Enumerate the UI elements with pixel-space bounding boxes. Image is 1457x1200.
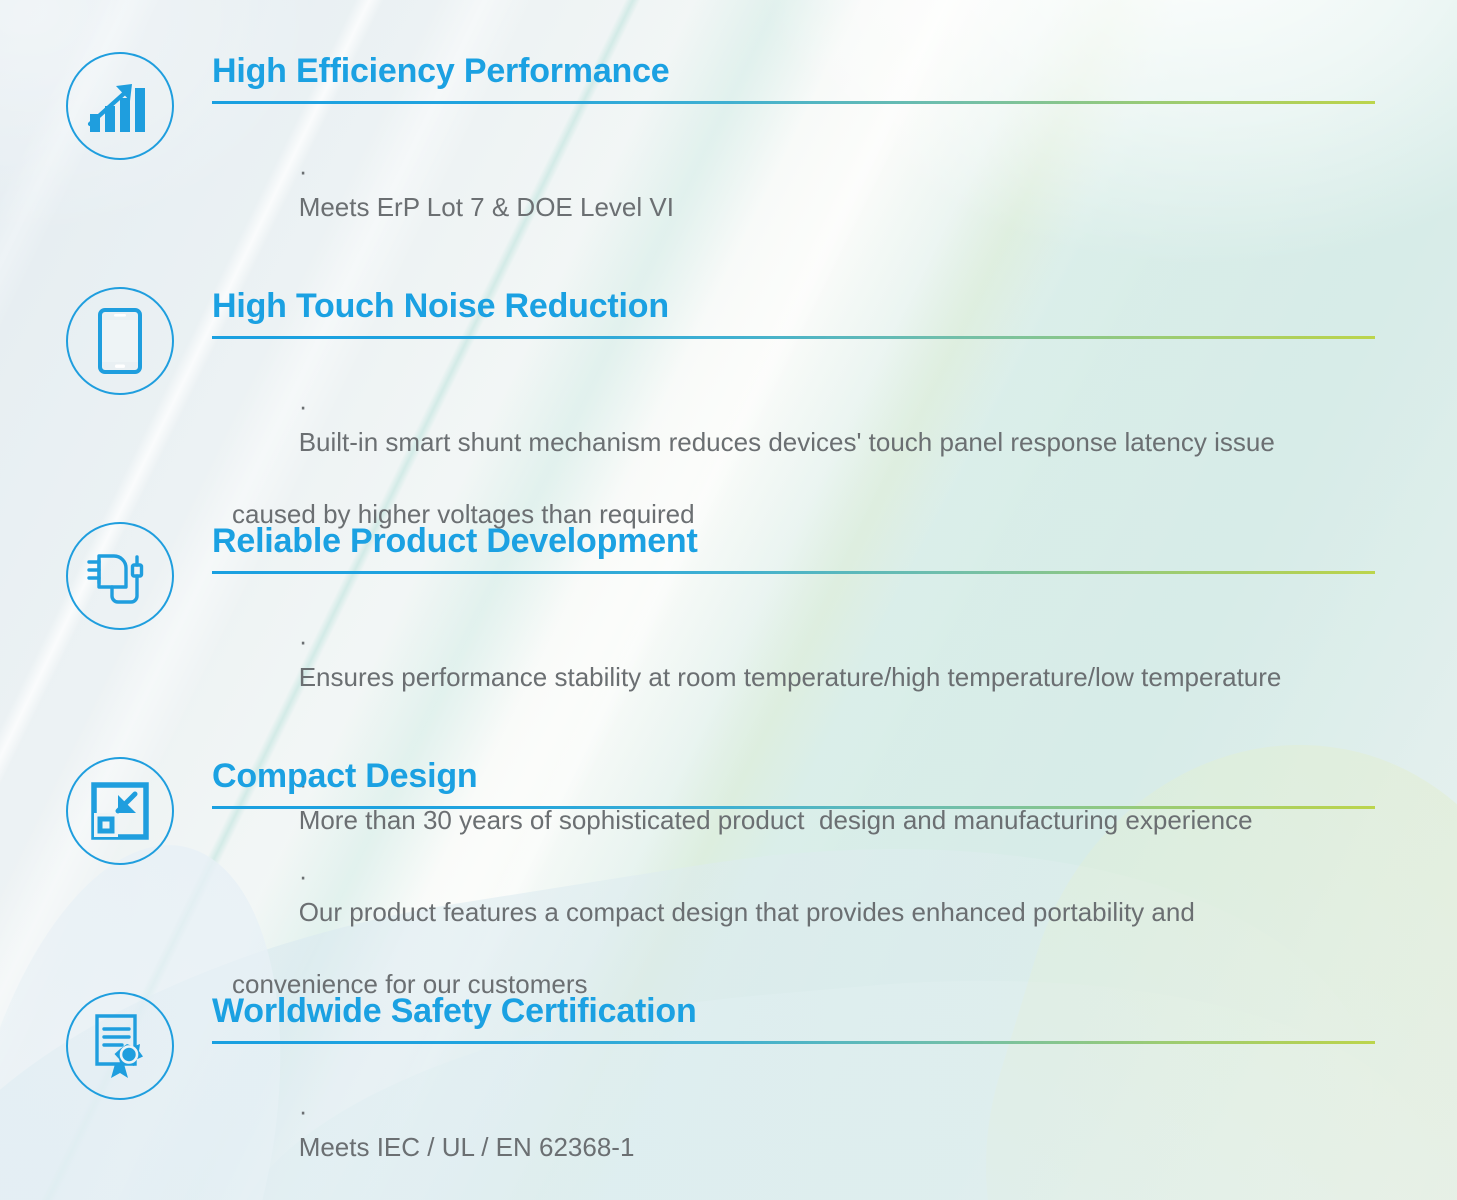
feature-bullet-line: · Our product features a compact design …	[212, 823, 1377, 967]
feature-item-worldwide-safety-certification: Worldwide Safety Certification · Meets I…	[0, 992, 1457, 1200]
feature-divider	[212, 101, 1375, 104]
feature-bullet-line: · Ensures performance stability at room …	[212, 588, 1377, 732]
feature-icon-wrap	[56, 757, 184, 865]
feature-body: Worldwide Safety Certification · Meets I…	[212, 992, 1457, 1200]
feature-lines: · Meets IEC / UL / EN 62368-1	[212, 1058, 1377, 1200]
feature-bullet-line: · Built-in smart shunt mechanism reduces…	[212, 353, 1377, 497]
feature-title: High Efficiency Performance	[212, 52, 1377, 90]
feature-divider	[212, 1041, 1375, 1044]
feature-title: Reliable Product Development	[212, 522, 1377, 560]
feature-bullet-line: · Meets ErP Lot 7 & DOE Level VI	[212, 118, 1377, 262]
smartphone-icon	[66, 287, 174, 395]
feature-title: Worldwide Safety Certification	[212, 992, 1377, 1030]
compact-resize-icon	[66, 757, 174, 865]
feature-icon-wrap	[56, 52, 184, 160]
feature-body: High Efficiency Performance · Meets ErP …	[212, 52, 1457, 262]
feature-icon-wrap	[56, 992, 184, 1100]
bullet-text: Built-in smart shunt mechanism reduces d…	[299, 427, 1275, 457]
feature-bullet-line: · Meets IEC / UL / EN 62368-1	[212, 1058, 1377, 1200]
feature-lines: · Our product features a compact design …	[212, 823, 1377, 1002]
feature-title: High Touch Noise Reduction	[212, 287, 1377, 325]
bullet-dot: ·	[299, 156, 308, 186]
feature-body: High Touch Noise Reduction · Built-in sm…	[212, 287, 1457, 532]
bullet-text: Ensures performance stability at room te…	[299, 662, 1282, 692]
bullet-dot: ·	[299, 1096, 308, 1126]
feature-divider	[212, 806, 1375, 809]
feature-item-high-efficiency-performance: High Efficiency Performance · Meets ErP …	[0, 52, 1457, 262]
feature-highlights-page: High Efficiency Performance · Meets ErP …	[0, 0, 1457, 1200]
feature-divider	[212, 336, 1375, 339]
feature-title: Compact Design	[212, 757, 1377, 795]
feature-lines: · Built-in smart shunt mechanism reduces…	[212, 353, 1377, 532]
bullet-dot: ·	[299, 626, 308, 656]
bullet-text: Our product features a compact design th…	[299, 897, 1195, 927]
certificate-seal-icon	[66, 992, 174, 1100]
feature-body: Compact Design · Our product features a …	[212, 757, 1457, 1002]
feature-item-compact-design: Compact Design · Our product features a …	[0, 757, 1457, 1002]
feature-icon-wrap	[56, 287, 184, 395]
bar-chart-growth-icon	[66, 52, 174, 160]
feature-item-high-touch-noise-reduction: High Touch Noise Reduction · Built-in sm…	[0, 287, 1457, 532]
feature-divider	[212, 571, 1375, 574]
feature-lines: · Meets ErP Lot 7 & DOE Level VI	[212, 118, 1377, 262]
bullet-text: Meets IEC / UL / EN 62368-1	[299, 1132, 635, 1162]
bullet-dot: ·	[299, 391, 308, 421]
bullet-text: Meets ErP Lot 7 & DOE Level VI	[299, 192, 674, 222]
feature-icon-wrap	[56, 522, 184, 630]
bullet-dot: ·	[299, 861, 308, 891]
power-adapter-icon	[66, 522, 174, 630]
